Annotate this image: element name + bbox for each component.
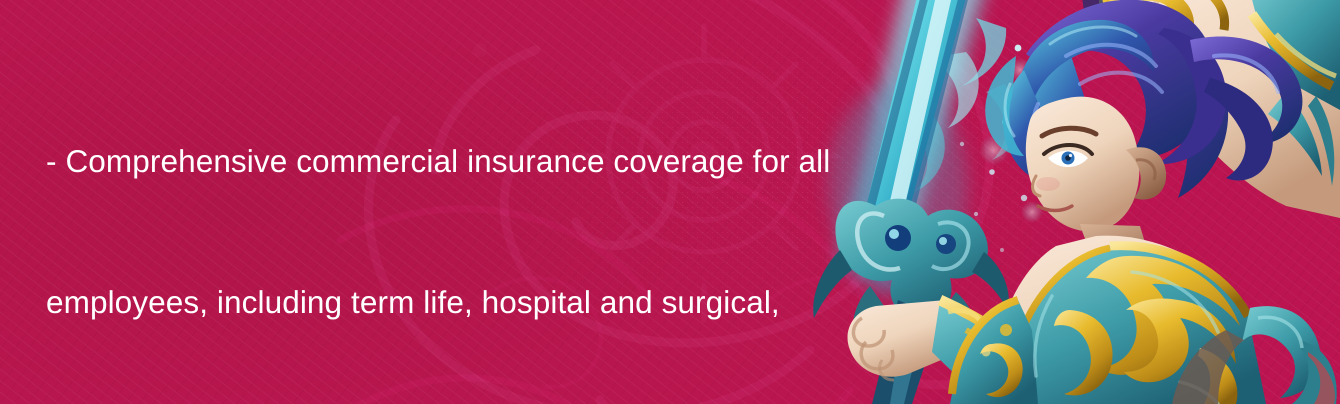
benefit-line-2: employees, including term life, hospital… [46,279,846,326]
benefits-text-block: - Comprehensive commercial insurance cov… [46,44,846,404]
benefits-banner: - Comprehensive commercial insurance cov… [0,0,1340,404]
benefit-line-1: - Comprehensive commercial insurance cov… [46,138,846,185]
